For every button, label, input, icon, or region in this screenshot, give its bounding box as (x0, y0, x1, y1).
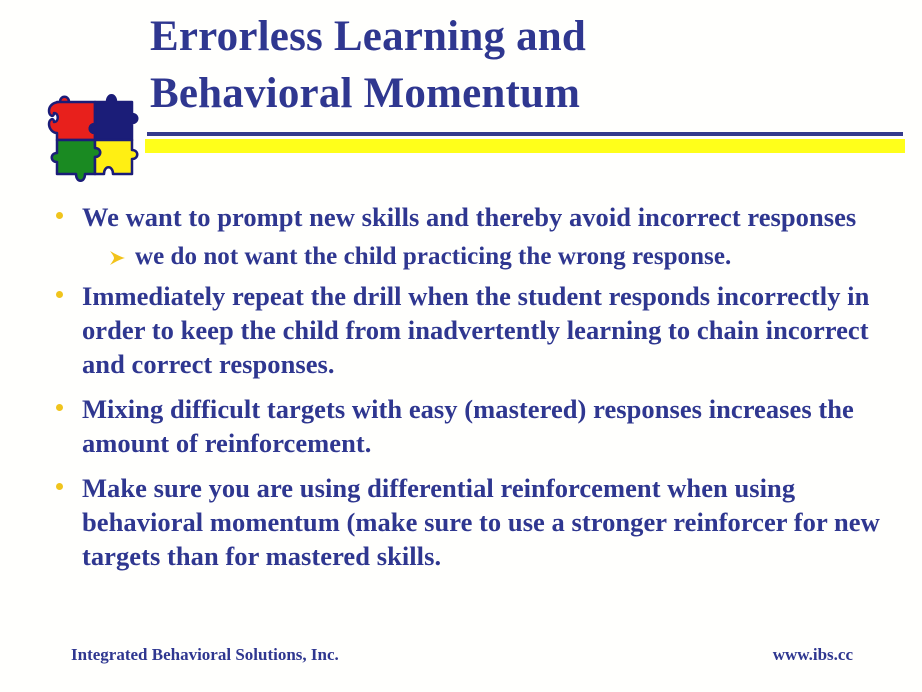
spacer (48, 383, 904, 392)
footer-company-name: Integrated Behavioral Solutions, Inc. (71, 645, 339, 665)
slide-footer: Integrated Behavioral Solutions, Inc. ww… (0, 645, 922, 679)
title-line-1: Errorless Learning and (150, 8, 890, 65)
list-item: Make sure you are using differential rei… (48, 471, 904, 573)
list-item-sub: we do not want the child practicing the … (48, 240, 904, 273)
puzzle-logo-icon (33, 82, 149, 188)
bullet-list: We want to prompt new skills and thereby… (48, 200, 904, 575)
puzzle-piece-bottom-left (52, 140, 101, 181)
list-item: Immediately repeat the drill when the st… (48, 279, 904, 381)
bullet-dot-icon (48, 279, 82, 298)
divider-navy-line (147, 132, 903, 136)
puzzle-piece-top-right (90, 95, 138, 140)
bullet-dot-icon (48, 392, 82, 411)
list-item: We want to prompt new skills and thereby… (48, 200, 904, 234)
spacer (48, 462, 904, 471)
slide-title: Errorless Learning and Behavioral Moment… (150, 8, 890, 122)
footer-website: www.ibs.cc (773, 645, 853, 665)
puzzle-piece-top-left (49, 97, 95, 140)
bullet-dot-icon (48, 200, 82, 219)
divider-yellow-bar (145, 139, 905, 153)
list-item-sub-text: we do not want the child practicing the … (135, 240, 904, 273)
list-item: Mixing difficult targets with easy (mast… (48, 392, 904, 460)
slide-canvas: Errorless Learning and Behavioral Moment… (0, 0, 922, 692)
list-item-text: Make sure you are using differential rei… (82, 471, 904, 573)
list-item-text: Mixing difficult targets with easy (mast… (82, 392, 904, 460)
title-line-2: Behavioral Momentum (150, 65, 890, 122)
bullet-dot-icon (48, 471, 82, 490)
list-item-text: Immediately repeat the drill when the st… (82, 279, 904, 381)
list-item-text: We want to prompt new skills and thereby… (82, 200, 904, 234)
puzzle-piece-bottom-right (95, 140, 137, 174)
bullet-arrow-icon (107, 240, 135, 268)
